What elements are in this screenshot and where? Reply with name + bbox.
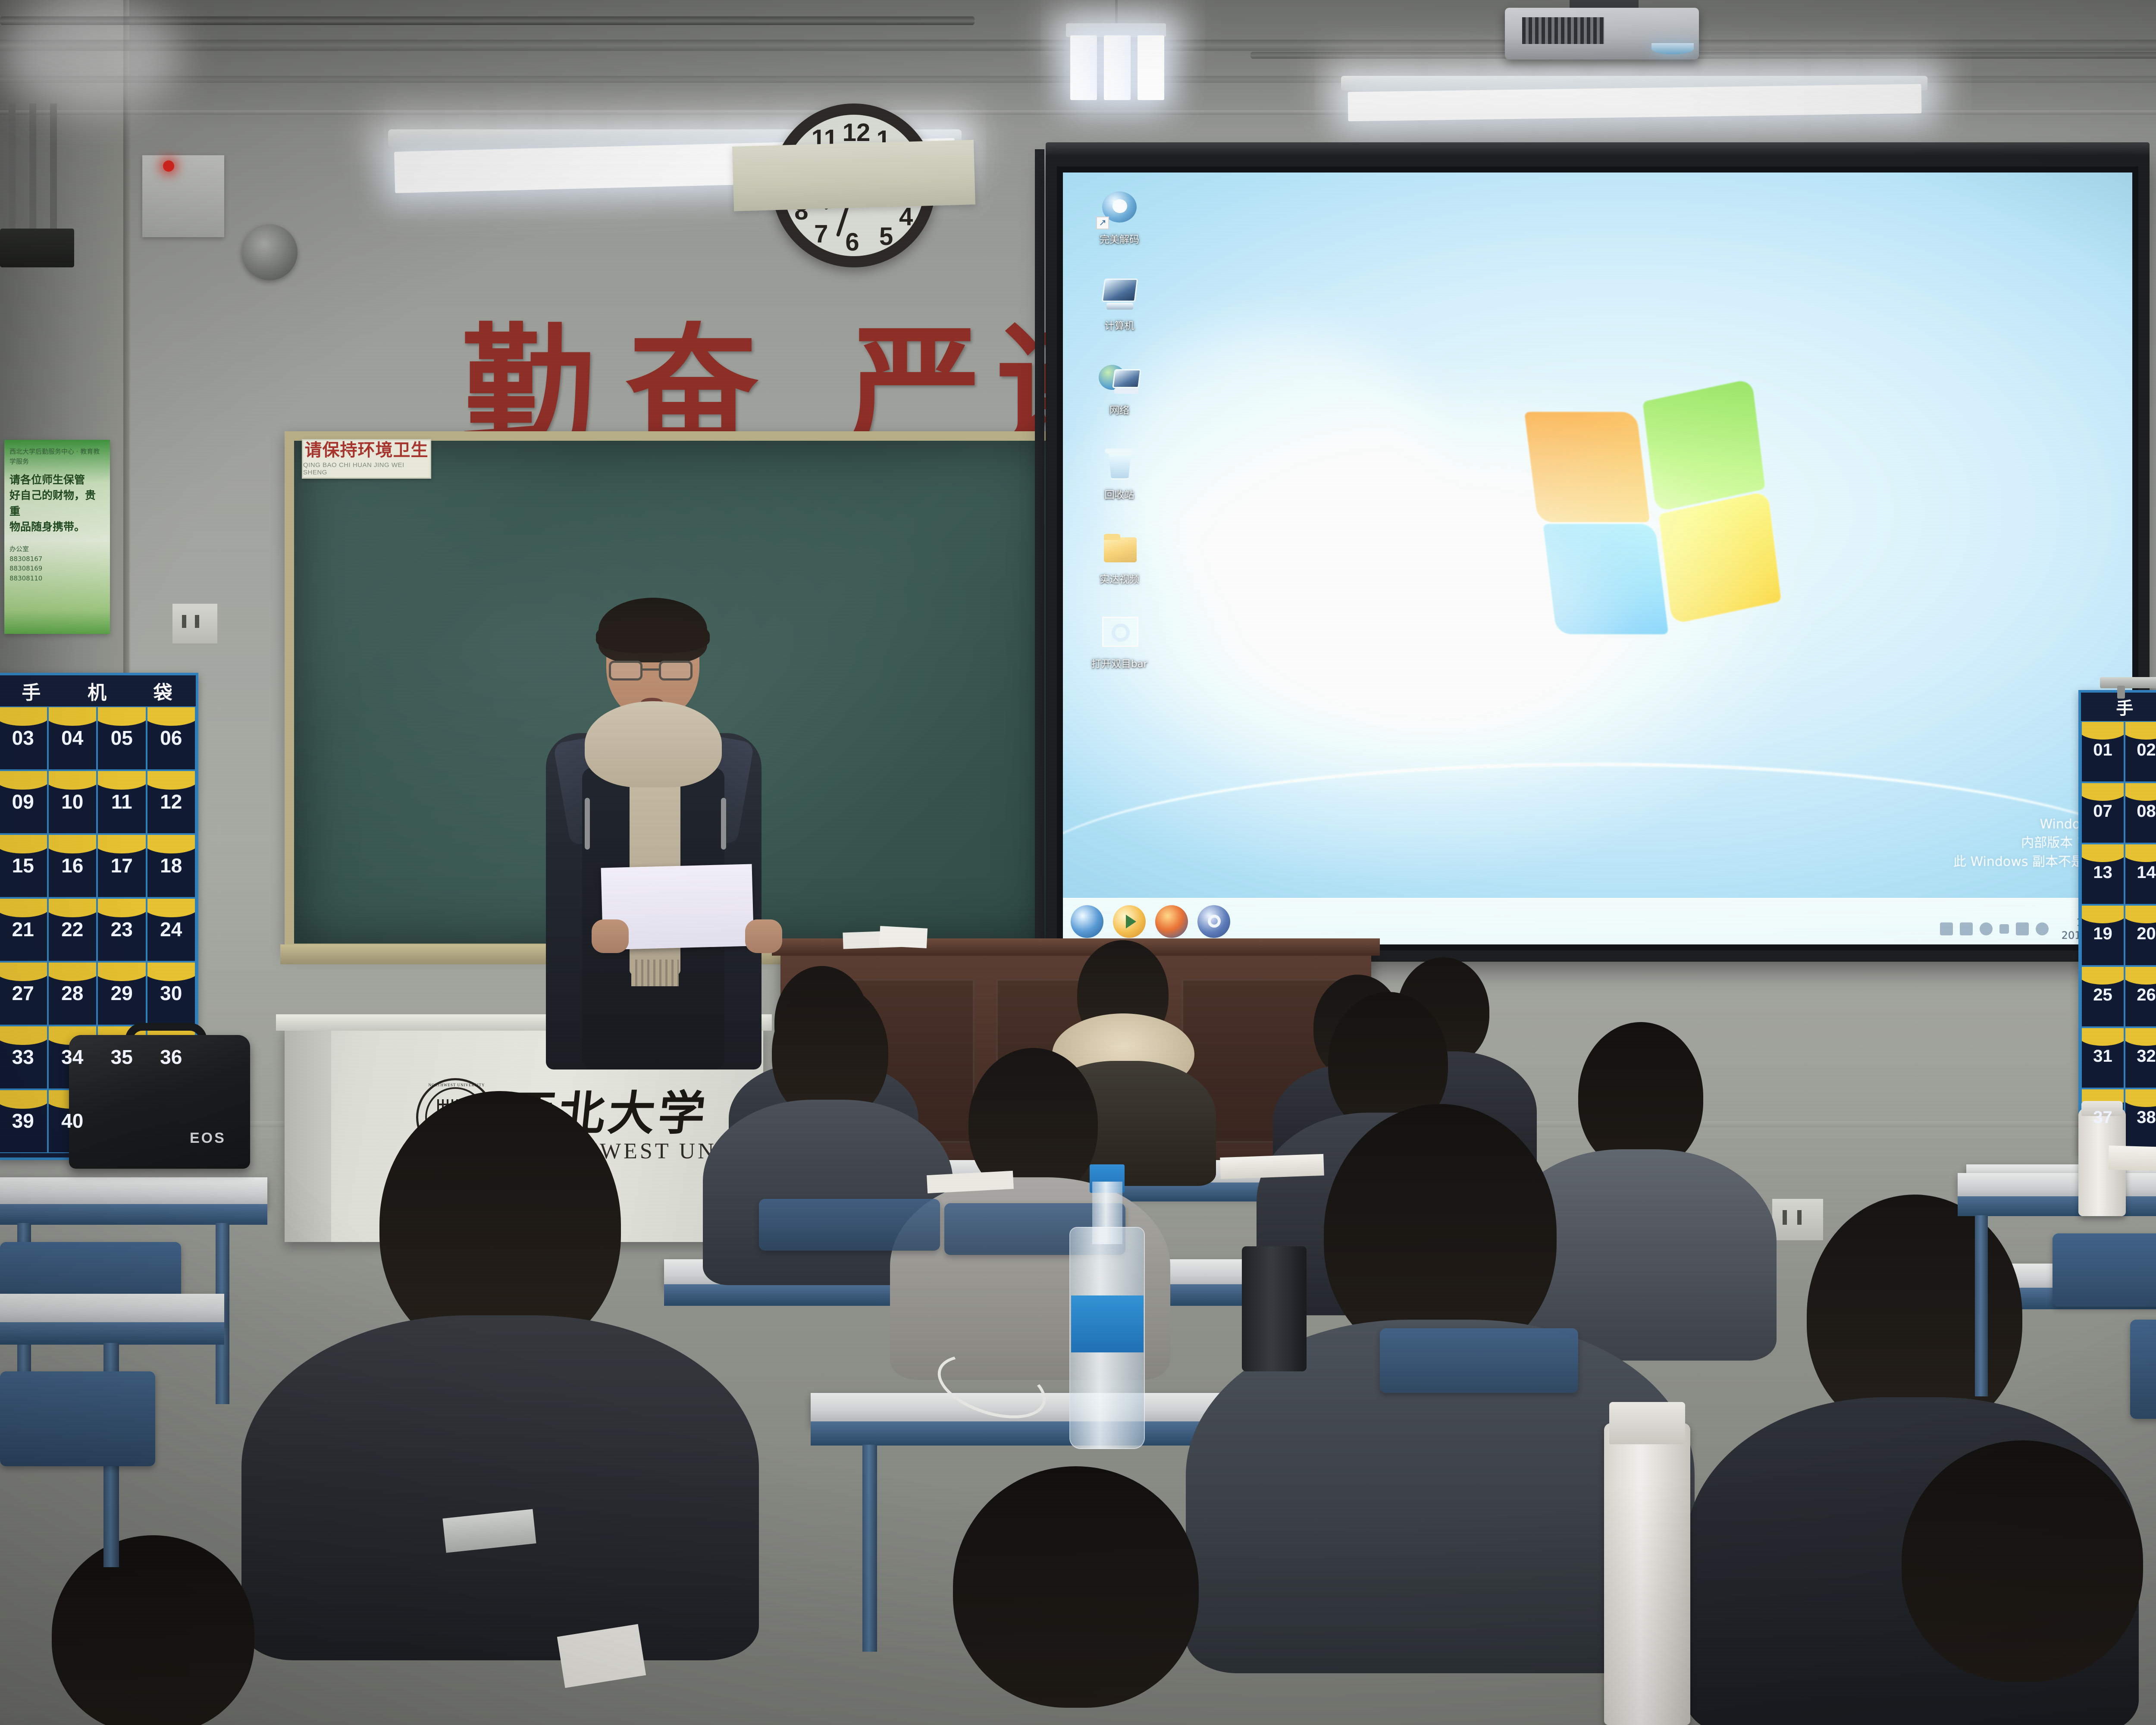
glasses-icon <box>659 661 693 681</box>
chart-pocket[interactable]: 09 <box>0 770 48 834</box>
desk-edge <box>0 1322 224 1345</box>
sign-text-cn: 请保持环境卫生 <box>305 442 429 459</box>
chair-back <box>0 1371 155 1466</box>
chart-title-char: 袋 <box>154 677 172 705</box>
notice-contact-number: 88308167 <box>9 554 105 564</box>
windows-taskbar[interactable]: 18:50 2018/12/11 <box>1063 898 2132 944</box>
chart-pocket[interactable]: 30 <box>147 962 196 1026</box>
folder-icon <box>1096 530 1143 572</box>
glasses-icon <box>609 661 642 681</box>
dark-cup <box>1242 1246 1307 1371</box>
chart-pocket[interactable]: 25 <box>2081 966 2125 1027</box>
chart-pocket[interactable]: 20 <box>2125 905 2156 966</box>
student-head <box>953 1466 1199 1708</box>
chart-pocket[interactable]: 39 <box>0 1089 48 1153</box>
student <box>259 1091 742 1643</box>
chart-pocket-number: 09 <box>12 790 34 813</box>
desktop-icon-label: 完美解码 <box>1074 235 1165 245</box>
desktop-icon-label: 回收站 <box>1074 490 1165 501</box>
wall-conduit <box>9 103 16 241</box>
chart-pocket-number: 32 <box>2137 1047 2156 1066</box>
chart-pocket[interactable]: 01 <box>2081 721 2125 782</box>
tray-icon-ime[interactable] <box>1940 922 1953 935</box>
chart-pocket-number: 22 <box>61 918 83 941</box>
chart-row: 15161718 <box>0 834 196 898</box>
student-head <box>52 1535 254 1725</box>
screen-roller[interactable] <box>1046 142 2150 157</box>
chart-pocket-number: 37 <box>2093 1108 2112 1127</box>
bottle-label <box>1071 1295 1144 1352</box>
light-glow <box>0 0 181 112</box>
camera-bag-logo: EOS <box>190 1130 226 1147</box>
chart-pocket-number: 24 <box>160 918 182 941</box>
chart-pocket-number: 06 <box>160 726 182 750</box>
light-tube <box>1104 35 1131 100</box>
chart-pocket[interactable]: 17 <box>97 834 147 898</box>
chart-pocket[interactable]: 23 <box>97 898 147 962</box>
ceiling-pipe <box>1250 52 2156 59</box>
chart-pocket[interactable]: 31 <box>2081 1027 2125 1088</box>
tray-icon-show-hidden[interactable] <box>1999 924 2009 934</box>
notice-line: 请各位师生保管 <box>9 472 105 488</box>
chart-pocket-number: 26 <box>2137 985 2156 1005</box>
presenter-eyebrow <box>611 655 638 659</box>
chart-pocket-number: 07 <box>2093 802 2112 821</box>
desktop-icon-computer[interactable]: 计算机 <box>1074 276 1165 332</box>
presenter-hair <box>599 598 707 662</box>
chart-row: 192021222324 <box>2081 905 2156 966</box>
wall-speaker <box>241 224 298 280</box>
chart-pocket[interactable]: 12 <box>147 770 196 834</box>
junction-box <box>0 229 74 267</box>
chart-pocket-number: 15 <box>12 854 34 877</box>
water-bottle <box>1069 1164 1145 1449</box>
chart-pocket-number: 05 <box>111 726 133 750</box>
sign-text-pinyin: QING BAO CHI HUAN JING WEI SHENG <box>303 461 430 476</box>
chart-pocket-number: 28 <box>61 982 83 1005</box>
chart-pocket-number: 19 <box>2093 924 2112 944</box>
desktop-icon-label: 打开双目bar <box>1074 659 1165 670</box>
keep-clean-sign: 请保持环境卫生 QING BAO CHI HUAN JING WEI SHENG <box>302 439 431 479</box>
chart-pocket-number: 12 <box>160 790 182 813</box>
chart-pocket[interactable]: 05 <box>97 706 147 770</box>
shortcut-arrow-icon: ↗ <box>1096 216 1109 229</box>
light-tube <box>1138 35 1164 100</box>
chart-title-char: 手 <box>22 677 41 705</box>
chart-pocket[interactable]: 33 <box>0 1026 48 1089</box>
recycle-bin-icon <box>1096 445 1143 487</box>
projection-screen[interactable]: ↗ 完美解码 计算机 网 <box>1046 155 2150 962</box>
chart-pocket[interactable]: 28 <box>48 962 97 1026</box>
student-desk <box>0 1177 267 1207</box>
chair-back <box>1380 1328 1578 1393</box>
chart-pocket[interactable]: 15 <box>0 834 48 898</box>
chart-pocket-number: 27 <box>12 982 34 1005</box>
light-fixture-over-clock <box>732 140 975 211</box>
student <box>0 1535 310 1725</box>
chart-row: 070809101112 <box>2081 782 2156 844</box>
chart-pocket[interactable]: 07 <box>2081 782 2125 844</box>
paper-on-desk <box>879 926 928 948</box>
presenter-eyebrow <box>662 655 689 659</box>
chart-pocket[interactable]: 14 <box>2125 844 2156 905</box>
windows-logo-icon <box>1520 383 1789 652</box>
chart-pocket[interactable]: 02 <box>2125 721 2156 782</box>
chart-pocket[interactable]: 32 <box>2125 1027 2156 1088</box>
chart-pocket[interactable]: 06 <box>147 706 196 770</box>
open-book <box>2108 1145 2156 1173</box>
firefox-icon[interactable] <box>1155 905 1188 938</box>
student-desk <box>1958 1173 2156 1200</box>
notice-contact-number: 88308110 <box>9 574 105 583</box>
chart-title-char: 机 <box>88 677 107 705</box>
tray-icon-keyboard[interactable] <box>1960 922 1973 935</box>
presenter-hand <box>745 919 782 953</box>
chart-row: 09101112 <box>0 770 196 834</box>
chart-row: 131415161718 <box>2081 844 2156 905</box>
settings-icon[interactable] <box>1197 905 1230 938</box>
chart-pocket-number: 03 <box>12 726 34 750</box>
chart-pocket-number: 10 <box>61 790 83 813</box>
chart-pocket-number: 18 <box>160 854 182 877</box>
notice-line: 好自己的财物，贵重 <box>9 488 105 519</box>
chart-pocket-number: 01 <box>2093 740 2112 760</box>
chart-pocket[interactable]: 38 <box>2125 1088 2156 1150</box>
wall-conduit <box>50 103 57 241</box>
notice-poster: 西北大学后勤服务中心 · 教育教学服务 请各位师生保管 好自己的财物，贵重 物品… <box>4 440 110 634</box>
desktop-icon-label: 网络 <box>1074 405 1165 416</box>
chart-pocket-number: 25 <box>2093 985 2112 1005</box>
chart-pocket[interactable]: 18 <box>147 834 196 898</box>
start-orb-icon[interactable] <box>1071 905 1103 938</box>
projector-vent <box>1522 17 1604 44</box>
thermos-cap <box>1609 1402 1685 1444</box>
windows-desktop[interactable]: ↗ 完美解码 计算机 网 <box>1063 172 2132 944</box>
chart-pocket-number: 34 <box>61 1045 83 1069</box>
chair-back <box>759 1199 940 1251</box>
desk-leg <box>1975 1215 1988 1396</box>
phone-pocket-chart-right: 手 机 袋 0102030405060708091011121314151617… <box>2078 690 2156 1156</box>
alarm-box <box>142 155 224 237</box>
student <box>845 1466 1311 1725</box>
chart-pocket[interactable]: 13 <box>2081 844 2125 905</box>
clock-numeral: 5 <box>879 222 893 251</box>
screen-side-rail <box>1035 149 1044 969</box>
desktop-icon-network[interactable]: 网络 <box>1074 361 1165 416</box>
chair-back <box>2053 1233 2156 1307</box>
chart-pocket[interactable]: 10 <box>48 770 97 834</box>
notice-header: 西北大学后勤服务中心 · 教育教学服务 <box>9 447 105 466</box>
chart-pocket[interactable]: 03 <box>0 706 48 770</box>
chart-pocket-number: 04 <box>61 726 83 750</box>
projector-lens-icon <box>1651 43 1694 54</box>
chart-row: 21222324 <box>0 898 196 962</box>
chart-pocket-number: 30 <box>160 982 182 1005</box>
clock-numeral: 4 <box>899 202 913 231</box>
notice-contact-label: 办公室 <box>9 544 105 554</box>
thermos-bottle <box>1604 1423 1690 1725</box>
chart-pocket-number: 21 <box>12 918 34 941</box>
computer-icon <box>1096 276 1143 318</box>
open-book <box>1220 1154 1324 1179</box>
desk-edge <box>0 1204 267 1225</box>
desktop-icon-settings[interactable]: 打开双目bar <box>1074 614 1165 670</box>
desk-edge <box>1958 1196 2156 1216</box>
chart-pocket-number: 02 <box>2137 740 2156 760</box>
chart-pocket[interactable]: 29 <box>97 962 147 1026</box>
chart-title: 手 机 袋 <box>0 675 196 706</box>
presenter-hand <box>592 919 629 953</box>
chart-row: 010203040506 <box>2081 721 2156 782</box>
chart-pocket[interactable]: 24 <box>147 898 196 962</box>
student-desk <box>0 1294 224 1327</box>
chart-pocket[interactable]: 19 <box>2081 905 2125 966</box>
chart-pocket[interactable]: 08 <box>2125 782 2156 844</box>
desktop-icon-media-player[interactable]: ↗ 完美解码 <box>1074 190 1165 245</box>
presenter-scarf <box>585 701 722 787</box>
tray-icon-help[interactable] <box>1980 922 1993 935</box>
chart-pocket-number: 29 <box>111 982 133 1005</box>
chart-pocket-number: 20 <box>2137 924 2156 944</box>
chart-pocket-number: 36 <box>160 1045 182 1069</box>
camera-bag <box>69 1035 250 1169</box>
light-tube <box>1070 35 1097 100</box>
chart-pocket-number: 38 <box>2137 1108 2156 1127</box>
chart-pocket-number: 23 <box>111 918 133 941</box>
media-player-icon[interactable] <box>1113 905 1146 938</box>
desktop-icon-folder[interactable]: 实达视频 <box>1074 530 1165 585</box>
chart-pocket-grid: 0102030405060708091011121314151617181920… <box>2081 721 2156 1150</box>
notice-contact-number: 88308169 <box>9 564 105 574</box>
tray-icon-volume[interactable] <box>2036 922 2049 935</box>
student-shoulders <box>241 1315 759 1660</box>
chart-pocket[interactable]: 11 <box>97 770 147 834</box>
desktop-icon-label: 实达视频 <box>1074 574 1165 585</box>
chart-pocket-number: 14 <box>2137 863 2156 882</box>
screen-bezel: ↗ 完美解码 计算机 网 <box>1057 166 2138 950</box>
chart-pocket[interactable]: 04 <box>48 706 97 770</box>
chart-pocket-number: 17 <box>111 854 133 877</box>
chart-row: 313233343536 <box>2081 1027 2156 1088</box>
chart-pocket-number: 13 <box>2093 863 2112 882</box>
light-hanger <box>1115 0 1118 25</box>
hook-rail <box>2100 677 2156 688</box>
presenter-scarf-fringe <box>631 960 679 986</box>
wall-conduit <box>29 103 36 241</box>
chart-pocket[interactable]: 21 <box>0 898 48 962</box>
media-player-icon: ↗ <box>1096 190 1143 232</box>
chair-back <box>2130 1320 2156 1419</box>
desktop-icon-label: 计算机 <box>1074 321 1165 332</box>
clock-numeral: 7 <box>814 220 828 248</box>
chart-pocket[interactable]: 16 <box>48 834 97 898</box>
seal-top-text: NORTHWEST UNIVERSITY <box>424 1083 489 1087</box>
alarm-led-icon <box>163 160 174 172</box>
chart-pocket-number: 39 <box>12 1109 34 1132</box>
glasses-bridge <box>642 668 660 671</box>
chart-row: 252627282930 <box>2081 966 2156 1027</box>
student-head <box>1902 1440 2143 1682</box>
student <box>1802 1440 2156 1725</box>
chart-pocket[interactable]: 22 <box>48 898 97 962</box>
chart-pocket-number: 40 <box>61 1109 83 1132</box>
notice-line: 物品随身携带。 <box>9 519 105 535</box>
tray-icon-network[interactable] <box>2016 922 2029 935</box>
chart-pocket-number: 11 <box>111 790 132 813</box>
network-icon <box>1096 361 1143 403</box>
chart-pocket[interactable]: 26 <box>2125 966 2156 1027</box>
chart-row: 27282930 <box>0 962 196 1026</box>
chart-pocket[interactable]: 27 <box>0 962 48 1026</box>
classroom-scene: 12 11 1 4 5 6 7 8 勤 奋 严 谨 报警 消防 西北大学后勤服务… <box>0 0 2156 1725</box>
chart-pocket-number: 33 <box>12 1045 34 1069</box>
chart-pocket-number: 31 <box>2093 1047 2112 1066</box>
settings-icon <box>1096 614 1143 656</box>
chart-pocket-number: 35 <box>111 1045 133 1069</box>
clock-numeral: 6 <box>845 228 859 257</box>
chart-pocket-number: 16 <box>61 854 83 877</box>
chart-row: 03040506 <box>0 706 196 770</box>
desktop-icon-recycle-bin[interactable]: 回收站 <box>1074 445 1165 501</box>
chart-pocket-number: 08 <box>2137 802 2156 821</box>
wall-outlet[interactable] <box>172 604 217 643</box>
